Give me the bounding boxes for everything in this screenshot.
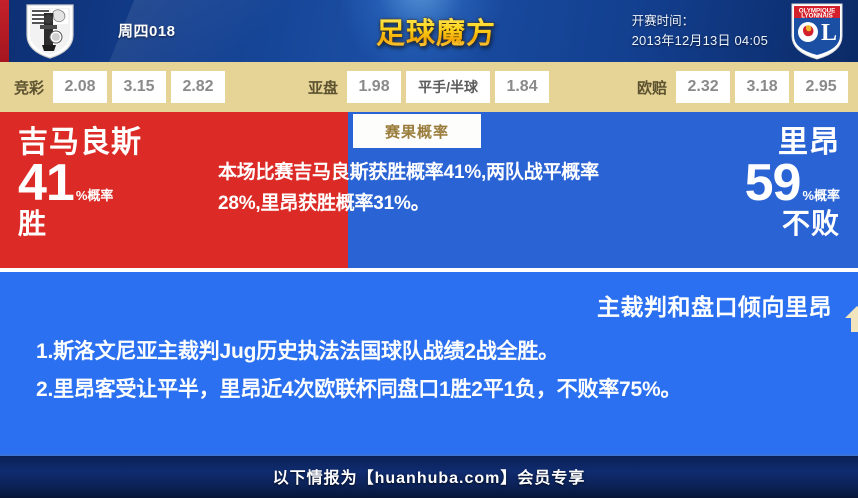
kickoff-value: 2013年12月13日 04:05 (632, 31, 768, 50)
odds-cell-oupei-away[interactable]: 2.95 (794, 71, 848, 103)
odds-cell-oupei-home[interactable]: 2.32 (676, 71, 730, 103)
away-result-label: 不败 (745, 210, 840, 238)
olympique-lyonnais-crest: OLYMPIQUE LYONNAIS L (788, 2, 846, 60)
insight-list: 1.斯洛文尼亚主裁判Jug历史执法法国球队战绩2战全胜。 2.里昂客受让平半，里… (36, 334, 826, 410)
away-percent-suffix: %概率 (802, 189, 840, 202)
home-percent-suffix: %概率 (76, 189, 114, 202)
footer-text: 以下情报为【huanhuba.com】会员专享 (273, 464, 586, 488)
probability-description: 本场比赛吉马良斯获胜概率41%,两队战平概率28%,里昂获胜概率31%。 (218, 157, 638, 219)
odds-cell-jingcai-away[interactable]: 2.82 (171, 71, 225, 103)
insight-headline-text: 主裁判和盘口倾向里昂 (597, 288, 832, 322)
odds-label-jingcai: 竞彩 (14, 77, 44, 98)
home-result-label: 胜 (18, 210, 142, 238)
page-footer: 以下情报为【huanhuba.com】会员专享 (0, 454, 858, 498)
odds-bar: 竞彩 2.08 3.15 2.82 亚盘 1.98 平手/半球 1.84 欧赔 … (0, 62, 858, 112)
insight-headline: 主裁判和盘口倾向里昂 (597, 288, 844, 322)
site-logo-text: 足球魔方 (354, 10, 518, 52)
odds-cell-yapan-handicap[interactable]: 平手/半球 (406, 71, 490, 103)
tab-result-probability[interactable]: 赛果概率 (353, 114, 481, 148)
site-logo[interactable]: 足球魔方 (354, 0, 518, 62)
home-percent-row: 41 %概率 (18, 160, 142, 208)
odds-cell-oupei-draw[interactable]: 3.18 (735, 71, 789, 103)
home-percent-value: 41 (18, 160, 74, 208)
away-percent-value: 59 (745, 160, 801, 208)
odds-label-oupei: 欧赔 (637, 77, 667, 98)
odds-cell-jingcai-draw[interactable]: 3.15 (112, 71, 166, 103)
match-round-label: 周四018 (118, 20, 176, 41)
odds-group-jingcai: 竞彩 2.08 3.15 2.82 (14, 71, 225, 103)
odds-cell-yapan-away[interactable]: 1.84 (495, 71, 549, 103)
away-probability-block: 里昂 59 %概率 不败 (745, 128, 840, 238)
away-percent-row: 59 %概率 (745, 160, 840, 208)
odds-cell-yapan-home[interactable]: 1.98 (347, 71, 401, 103)
svg-text:L: L (821, 20, 837, 46)
vitoria-guimaraes-crest (22, 3, 78, 59)
odds-group-oupei: 欧赔 2.32 3.18 2.95 (637, 71, 848, 103)
tab-result-probability-label: 赛果概率 (385, 121, 449, 142)
match-preview-page: 周四018 足球魔方 开赛时间： 2013年12月13日 04:05 OLYMP… (0, 0, 858, 498)
odds-group-yapan: 亚盘 1.98 平手/半球 1.84 (308, 71, 549, 103)
home-probability-block: 吉马良斯 41 %概率 胜 (18, 128, 142, 238)
insight-item-2: 2.里昂客受让平半，里昂近4次欧联杯同盘口1胜2平1负，不败率75%。 (36, 372, 826, 408)
kickoff-time: 开赛时间： 2013年12月13日 04:05 (632, 12, 768, 50)
kickoff-label: 开赛时间： (632, 12, 768, 31)
page-header: 周四018 足球魔方 开赛时间： 2013年12月13日 04:05 OLYMP… (0, 0, 858, 62)
insight-item-1: 1.斯洛文尼亚主裁判Jug历史执法法国球队战绩2战全胜。 (36, 334, 826, 370)
odds-cell-jingcai-home[interactable]: 2.08 (53, 71, 107, 103)
odds-label-yapan: 亚盘 (308, 77, 338, 98)
